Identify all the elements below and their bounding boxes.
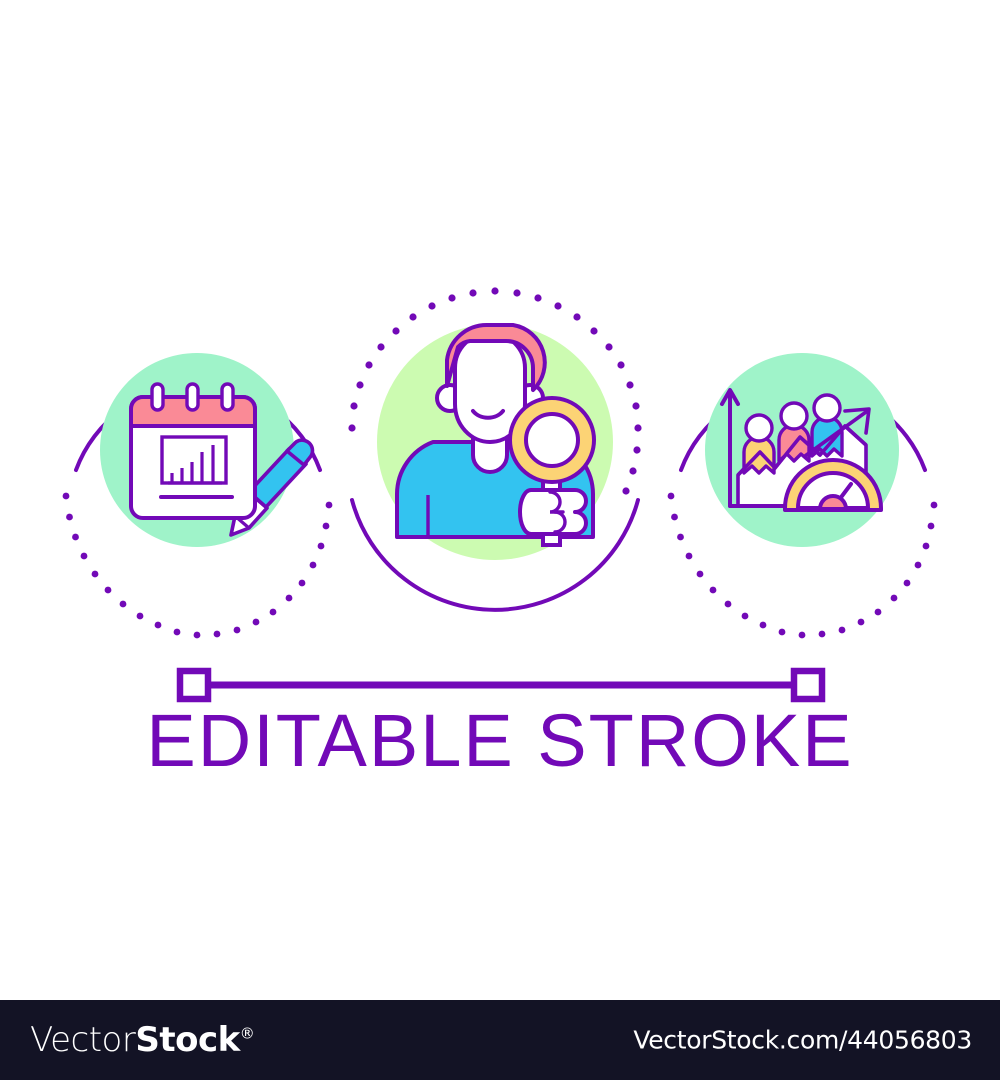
- vectorstock-url: VectorStock.com/44056803: [633, 1028, 972, 1053]
- registered-trademark-icon: ®: [240, 1025, 255, 1043]
- logo-text-vector: Vector: [30, 1020, 135, 1060]
- concept-group-growth-metrics: [668, 353, 938, 638]
- person-hand: [520, 490, 586, 534]
- magnifier-lens: [526, 414, 578, 466]
- vectorstock-logo: VectorStock®: [30, 1023, 254, 1057]
- person-figure-pink: [779, 403, 809, 461]
- illustration-page: EDITABLE STROKE VectorStock® VectorStock…: [0, 0, 1000, 1080]
- concept-group-report-notepad: [63, 353, 333, 638]
- stroke-handle-right[interactable]: [794, 671, 822, 699]
- logo-text-stock: Stock: [135, 1020, 239, 1060]
- concept-group-analyst-person: [348, 287, 641, 609]
- concept-icons-svg: EDITABLE STROKE: [0, 0, 1000, 1000]
- vectorstock-footer-bar: VectorStock® VectorStock.com/44056803: [0, 1000, 1000, 1080]
- icon-notepad: [131, 384, 312, 535]
- editable-stroke-bar: [180, 671, 822, 699]
- notepad-spiral-rings: [152, 384, 233, 410]
- editable-stroke-caption: EDITABLE STROKE: [146, 699, 853, 782]
- illustration-canvas: EDITABLE STROKE: [0, 0, 1000, 1000]
- stroke-handle-left[interactable]: [180, 671, 208, 699]
